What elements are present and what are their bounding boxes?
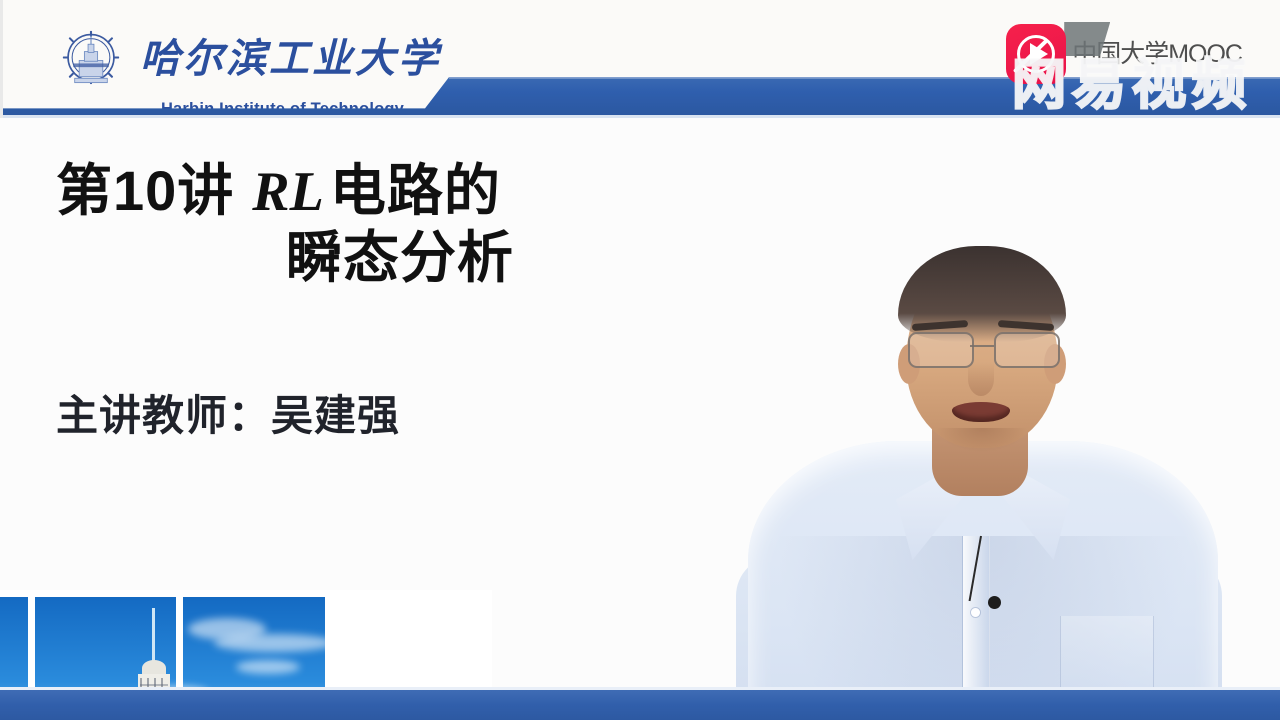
presenter-glasses-icon [906,332,1058,366]
title-line-1-suffix: 电路的 [330,159,501,222]
slide-title: 第10讲RL电路的 瞬态分析 [56,158,696,291]
presenter-shirt-pocket [1060,616,1154,695]
presenter-chin-shadow [936,428,1028,452]
slide-body: 第10讲RL电路的 瞬态分析 主讲教师：吴建强 [0,118,1280,720]
slide-footer-band [0,690,1280,720]
circuit-symbol-rl: RL [234,161,330,223]
video-player-frame: 哈尔滨工业大学 Harbin Institute of Technology 中… [0,0,1280,720]
title-line-2: 瞬态分析 [286,225,696,291]
platform-logo: 中国大学MOOC [1006,16,1242,84]
university-name-cn: 哈尔滨工业大学 [140,39,441,79]
lapel-mic-icon [988,596,1001,609]
lecture-number: 第10讲 [56,159,234,222]
university-logo: 哈尔滨工业大学 Harbin Institute of Technology [54,22,441,119]
slide-header: 哈尔滨工业大学 Harbin Institute of Technology 中… [0,0,1280,118]
presenter-nose [968,362,994,396]
title-line-1: 第10讲RL电路的 [56,158,696,225]
hit-emblem-icon [54,22,128,96]
presenter-video [700,236,1260,720]
mooc-play-icon [1006,24,1066,84]
instructor-label: 主讲教师：吴建强 [56,382,400,443]
